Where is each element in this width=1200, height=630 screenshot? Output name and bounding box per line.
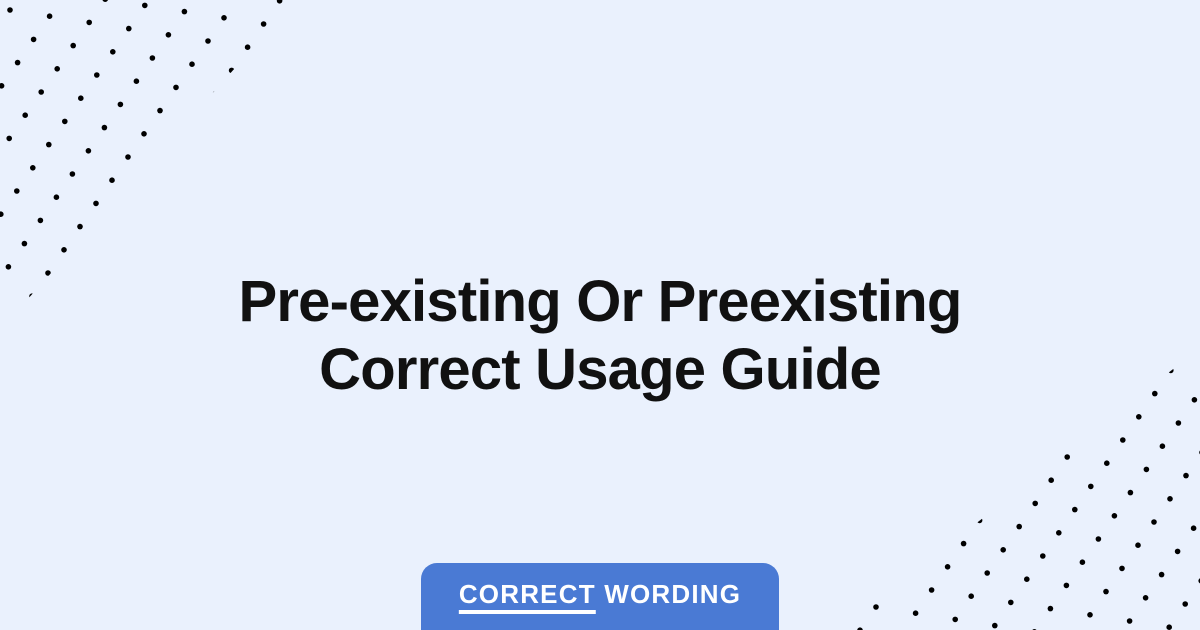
brand-button-label: CORRECT WORDING <box>459 579 741 610</box>
headline-line-2: Correct Usage Guide <box>60 336 1140 404</box>
headline-line-1: Pre-existing Or Preexisting <box>60 268 1140 336</box>
brand-word-correct: CORRECT <box>459 579 596 609</box>
brand-word-wording: WORDING <box>604 579 741 609</box>
brand-word-space <box>596 579 604 609</box>
page-title: Pre-existing Or Preexisting Correct Usag… <box>0 268 1200 404</box>
social-card: Pre-existing Or Preexisting Correct Usag… <box>0 0 1200 630</box>
correct-wording-button[interactable]: CORRECT WORDING <box>421 563 779 630</box>
